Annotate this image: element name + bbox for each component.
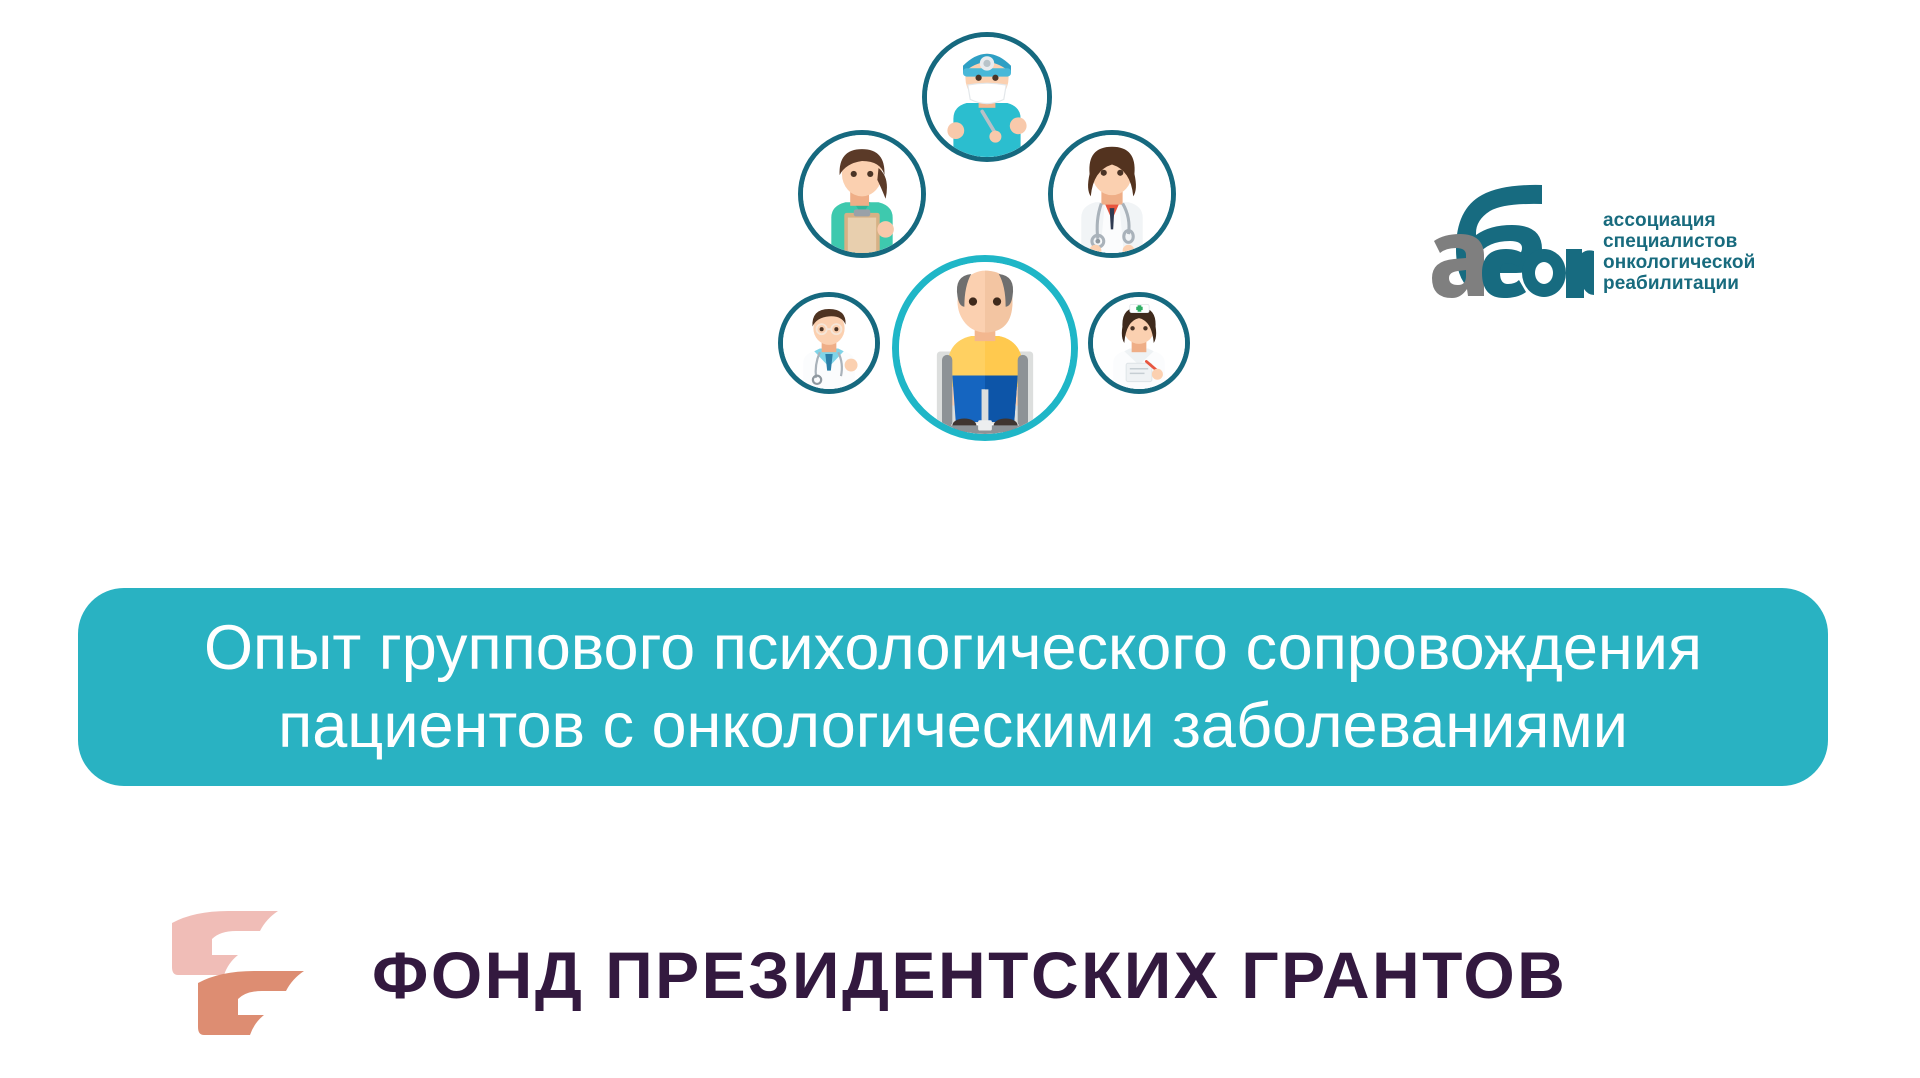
title-line-2: пациентов с онкологическими заболеваниям… — [278, 687, 1628, 765]
nurse-with-red-cross-avatar — [1088, 292, 1190, 394]
asor-logo-text: ассоциация специалистов онкологической р… — [1603, 210, 1755, 294]
asor-text-line-3: онкологической — [1603, 252, 1755, 273]
presidential-grants-fund-logo: ФОНД ПРЕЗИДЕНТСКИХ ГРАНТОВ — [150, 905, 1567, 1045]
presentation-title-banner: Опыт группового психологического сопрово… — [78, 588, 1828, 786]
asor-text-line-4: реабилитации — [1603, 273, 1755, 294]
asor-logo-mark — [1430, 173, 1595, 298]
nurse-with-clipboard-avatar — [798, 130, 926, 258]
female-doctor-avatar — [1048, 130, 1176, 258]
asor-text-line-2: специалистов — [1603, 231, 1755, 252]
title-line-1: Опыт группового психологического сопрово… — [204, 609, 1702, 687]
presidential-grants-fund-mark-icon — [150, 905, 320, 1045]
medical-team-illustration — [690, 20, 1230, 490]
presidential-grants-fund-text: ФОНД ПРЕЗИДЕНТСКИХ ГРАНТОВ — [372, 937, 1567, 1013]
slide-canvas: ассоциация специалистов онкологической р… — [0, 0, 1920, 1078]
asor-association-logo: ассоциация специалистов онкологической р… — [1430, 168, 1770, 298]
surgeon-avatar — [922, 32, 1052, 162]
male-doctor-avatar — [778, 292, 880, 394]
patient-in-wheelchair-avatar — [892, 255, 1078, 441]
asor-text-line-1: ассоциация — [1603, 210, 1755, 231]
